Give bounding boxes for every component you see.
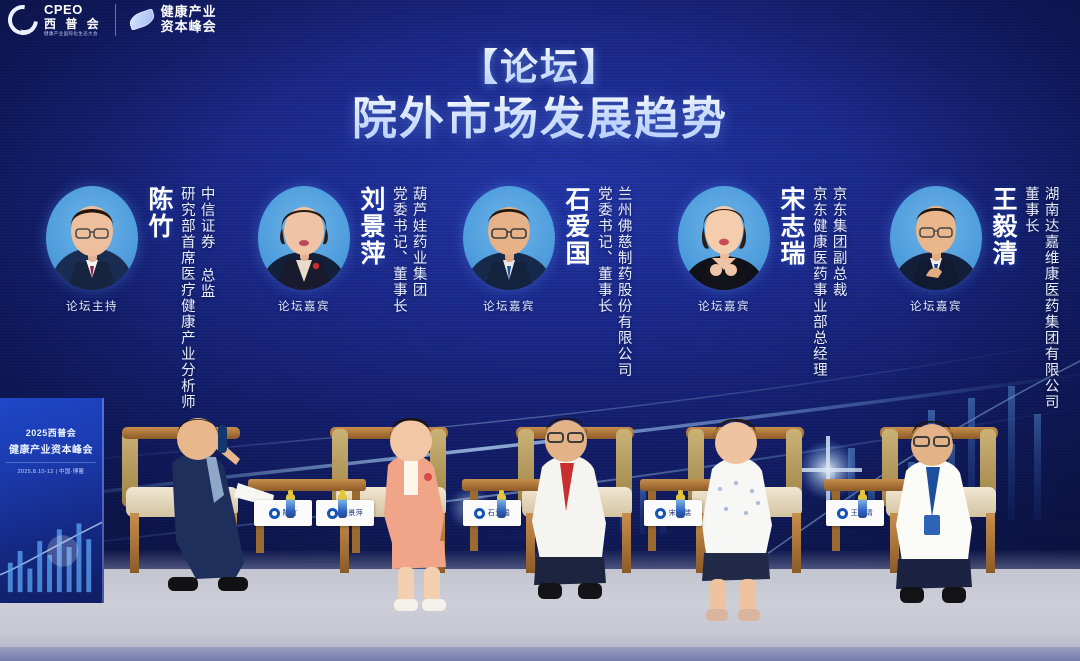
forum-title: 【论坛】 院外市场发展趋势: [0, 48, 1080, 144]
speaker-avatar-4: [890, 186, 982, 290]
forum-title-main: 院外市场发展趋势: [0, 94, 1080, 144]
speaker-photo-block-3: 论坛嘉宾: [672, 186, 776, 314]
speaker-card-3: 论坛嘉宾 宋志瑞 京东集团副总裁 京东健康医药事业部总经理: [672, 186, 847, 378]
nameplate-logo-icon-0: [269, 508, 280, 519]
water-bottle-3: [676, 494, 685, 518]
speaker-lineup: 论坛主持 陈竹 中信证券 总监 研究部首席医疗健康产业分析师 论坛嘉宾 刘景萍 …: [0, 186, 1080, 426]
speaker-card-2: 论坛嘉宾 石爱国 兰州佛慈制药股份有限公司 党委书记、董事长: [457, 186, 632, 378]
speaker-avatar-1: [258, 186, 350, 290]
water-bottle-4: [858, 494, 867, 518]
water-bottle-0: [286, 494, 295, 518]
speaker-org-line-2-1: 党委书记、董事长: [595, 186, 612, 378]
speaker-name-4: 王毅清: [990, 186, 1016, 267]
cpeo-ring-icon: [2, 0, 44, 41]
podium-banner-line2: 健康产业资本峰会: [6, 441, 96, 456]
speaker-org-line-0-0: 中信证券 总监: [198, 186, 215, 410]
speaker-name-2: 石爱国: [563, 186, 589, 267]
nameplate-4: 王毅清: [826, 500, 884, 526]
speaker-name-1: 刘景萍: [358, 186, 384, 267]
summit-logo: 健康产业 资本峰会: [129, 5, 217, 34]
speaker-org-line-1-1: 党委书记、董事长: [390, 186, 407, 314]
speaker-org-line-3-0: 京东集团副总裁: [830, 186, 847, 378]
cpeo-logo-en: CPEO: [44, 3, 102, 16]
podium-banner-line1: 2025西普会: [6, 426, 96, 439]
speaker-role-0: 论坛主持: [66, 298, 118, 314]
summit-logo-line2: 资本峰会: [161, 20, 217, 35]
speaker-role-4: 论坛嘉宾: [910, 298, 962, 314]
nameplate-3: 宋志瑞: [644, 500, 702, 526]
speaker-avatar-2: [463, 186, 555, 290]
speaker-org-line-4-1: 董事长: [1022, 186, 1039, 410]
speaker-card-1: 论坛嘉宾 刘景萍 葫芦娃药业集团 党委书记、董事长: [252, 186, 427, 314]
speaker-name-0: 陈竹: [146, 186, 172, 240]
podium-banner-line3: 2025.8.10-12 | 中国·博鳌: [6, 462, 96, 475]
speaker-name-3: 宋志瑞: [778, 186, 804, 267]
speaker-card-0: 论坛主持 陈竹 中信证券 总监 研究部首席医疗健康产业分析师: [40, 186, 215, 410]
speaker-org-line-0-1: 研究部首席医疗健康产业分析师: [178, 186, 195, 410]
speaker-avatar-3: [678, 186, 770, 290]
water-bottle-2: [497, 494, 506, 518]
conference-stage-photo: CPEO 西 普 会 健康产业国际化生态大会 健康产业 资本峰会 【论坛】 院外…: [0, 0, 1080, 661]
nameplate-2: 石爱国: [463, 500, 521, 526]
event-logo-bar: CPEO 西 普 会 健康产业国际化生态大会 健康产业 资本峰会: [8, 3, 217, 37]
speaker-role-1: 论坛嘉宾: [278, 298, 330, 314]
speaker-photo-block-0: 论坛主持: [40, 186, 144, 314]
speaker-org-3: 京东集团副总裁 京东健康医药事业部总经理: [810, 186, 847, 378]
speaker-org-2: 兰州佛慈制药股份有限公司 党委书记、董事长: [595, 186, 632, 378]
speaker-photo-block-1: 论坛嘉宾: [252, 186, 356, 314]
speaker-org-0: 中信证券 总监 研究部首席医疗健康产业分析师: [178, 186, 215, 410]
speaker-org-4: 湖南达嘉维康医药集团有限公司 董事长: [1022, 186, 1059, 410]
nameplate-logo-icon-2: [474, 508, 485, 519]
nameplate-logo-icon-4: [837, 508, 848, 519]
forum-title-bracket: 【论坛】: [0, 48, 1080, 90]
speaker-org-1: 葫芦娃药业集团 党委书记、董事长: [390, 186, 427, 314]
speaker-org-line-1-0: 葫芦娃药业集团: [410, 186, 427, 314]
cpeo-logo: CPEO 西 普 会 健康产业国际化生态大会: [8, 3, 102, 37]
speaker-org-line-3-1: 京东健康医药事业部总经理: [810, 186, 827, 378]
leaf-icon: [127, 9, 156, 31]
summit-logo-line1: 健康产业: [161, 5, 217, 20]
speaker-card-4: 论坛嘉宾 王毅清 湖南达嘉维康医药集团有限公司 董事长: [884, 186, 1059, 410]
speaker-org-line-2-0: 兰州佛慈制药股份有限公司: [615, 186, 632, 378]
speaker-photo-block-2: 论坛嘉宾: [457, 186, 561, 314]
speaker-role-2: 论坛嘉宾: [483, 298, 535, 314]
nameplate-logo-icon-3: [655, 508, 666, 519]
cpeo-logo-cn: 西 普 会: [44, 18, 102, 30]
water-bottle-1: [338, 494, 347, 518]
logo-divider: [115, 4, 116, 36]
nameplate-logo-icon-1: [327, 508, 338, 519]
speaker-photo-block-4: 论坛嘉宾: [884, 186, 988, 314]
speaker-avatar-0: [46, 186, 138, 290]
podium-chart-graphic: [0, 493, 102, 603]
speaker-org-line-4-0: 湖南达嘉维康医药集团有限公司: [1042, 186, 1059, 410]
podium-banner: 2025西普会 健康产业资本峰会 2025.8.10-12 | 中国·博鳌: [0, 398, 104, 603]
nameplate-0: 陈竹: [254, 500, 312, 526]
cpeo-logo-tagline: 健康产业国际化生态大会: [44, 32, 102, 37]
speaker-role-3: 论坛嘉宾: [698, 298, 750, 314]
